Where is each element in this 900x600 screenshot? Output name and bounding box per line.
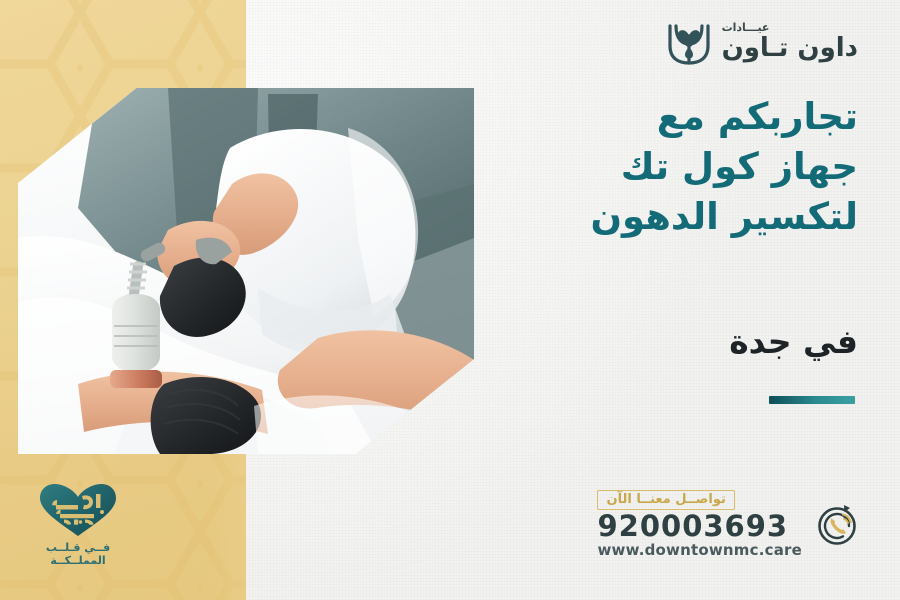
promo-banner: عيـــادات داون تـاون تجاربكم مع جهاز كول… xyxy=(0,0,900,600)
wellness-heart-icon xyxy=(30,481,126,537)
contact-cta-label[interactable]: تواصــل معنــا الآن xyxy=(597,490,734,510)
headline-line-2: جهاز كول تك xyxy=(388,142,858,192)
underline-rule-icon xyxy=(769,396,855,404)
clinic-logo-small-word: عيـــادات xyxy=(722,22,770,33)
wellness-tagline: فــي قـلــب المملــكــة xyxy=(46,541,110,569)
website-url[interactable]: www.downtownmc.care xyxy=(597,543,802,558)
subheadline: في جدة xyxy=(729,322,858,361)
phone-number[interactable]: 920003693 xyxy=(597,512,788,541)
headline-line-1: تجاربكم مع xyxy=(388,92,858,142)
clinic-logo: عيـــادات داون تـاون xyxy=(666,16,858,66)
city-label: في جدة xyxy=(729,322,858,361)
wellness-tagline-line-1: فــي قـلــب xyxy=(46,541,110,555)
tulip-heart-logo-icon xyxy=(666,16,712,66)
clinic-logo-main-word: داون تـاون xyxy=(722,35,858,61)
contact-block[interactable]: تواصــل معنــا الآن 920003693 www.downto… xyxy=(597,490,860,558)
contact-text: تواصــل معنــا الآن 920003693 www.downto… xyxy=(597,490,802,558)
page-title: تجاربكم مع جهاز كول تك لتكسير الدهون xyxy=(388,92,858,242)
wellness-badge: فــي قـلــب المملــكــة xyxy=(18,481,138,569)
clinic-logo-wordmark: عيـــادات داون تـاون xyxy=(722,22,858,61)
wellness-tagline-line-2: المملــكــة xyxy=(50,554,105,568)
phone-callback-icon[interactable] xyxy=(814,501,860,547)
headline-line-3: لتكسير الدهون xyxy=(388,192,858,242)
